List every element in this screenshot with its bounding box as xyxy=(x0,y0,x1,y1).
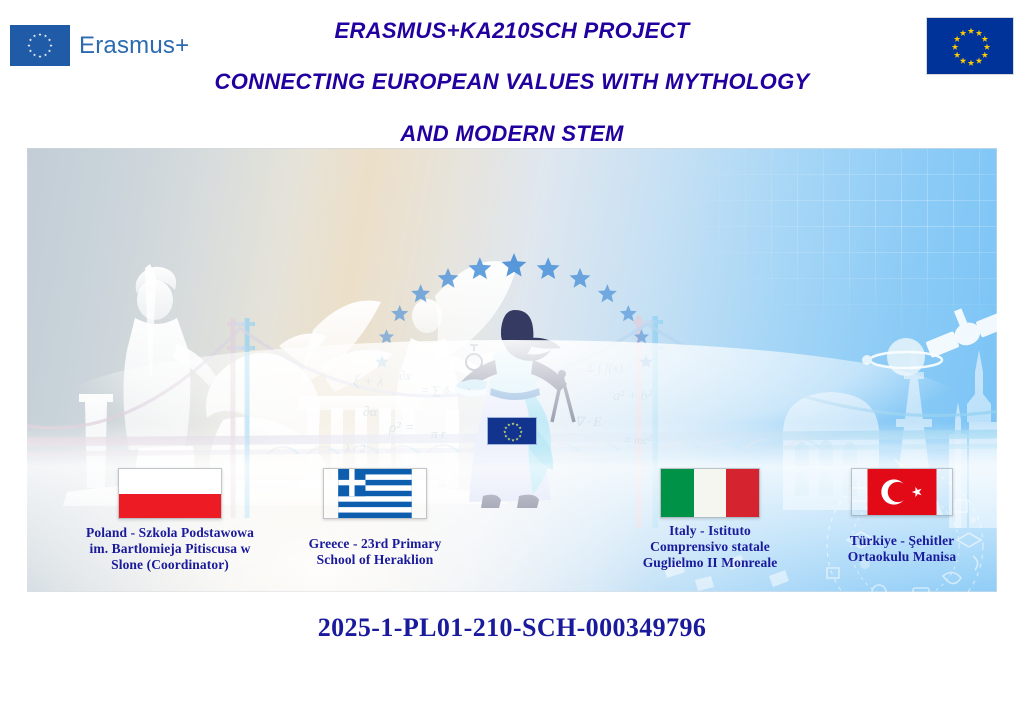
page-title: ERASMUS+KA210SCH PROJECT xyxy=(0,18,1024,44)
banner-illustration: ξ + λ ∂x = ∑ δ ∂α ρ² = π r Σ ∫ f(x) a² +… xyxy=(27,148,997,592)
project-code: 2025-1-PL01-210-SCH-000349796 xyxy=(0,613,1024,643)
partner-label-turkiye: Türkiye - Şehitler Ortaokulu Manisa xyxy=(789,533,997,565)
partner-card-turkiye: Türkiye - Şehitler Ortaokulu Manisa xyxy=(789,468,997,565)
partner-card-greece: Greece - 23rd Primary School of Heraklio… xyxy=(267,468,483,568)
greece-flag-icon xyxy=(323,468,427,519)
partner-card-poland: Poland - Szkola Podstawowa im. Bartlomie… xyxy=(45,468,295,573)
partner-label-greece: Greece - 23rd Primary School of Heraklio… xyxy=(267,536,483,568)
turkiye-flag-icon xyxy=(851,468,953,516)
partners-row: Poland - Szkola Podstawowa im. Bartlomie… xyxy=(27,148,997,592)
title-block: ERASMUS+KA210SCH PROJECT CONNECTING EURO… xyxy=(0,0,1024,147)
page-subtitle-1: CONNECTING EUROPEAN VALUES WITH MYTHOLOG… xyxy=(0,69,1024,95)
page-subtitle-2: AND MODERN STEM xyxy=(0,121,1024,147)
partner-label-poland: Poland - Szkola Podstawowa im. Bartlomie… xyxy=(45,525,295,573)
italy-flag-icon xyxy=(660,468,760,518)
poster: Erasmus+ ERASMUS+KA210SCH PROJECT CONNEC… xyxy=(0,0,1024,724)
poland-flag-icon xyxy=(118,468,222,519)
